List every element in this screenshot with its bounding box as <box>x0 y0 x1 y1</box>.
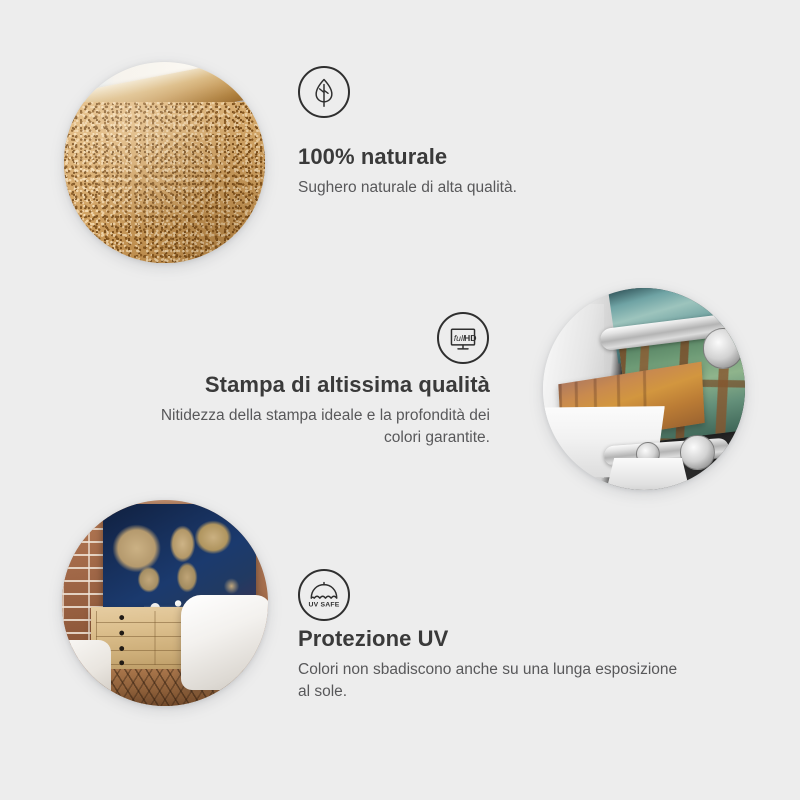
uv-safe-umbrella-icon: UV SAFE <box>298 569 350 621</box>
interior-world-map-photo <box>62 500 268 706</box>
feature-text-natural: 100% naturale Sughero naturale di alta q… <box>298 144 728 199</box>
fullhd-icon-text-bold: HD <box>464 333 477 343</box>
printer-roller-hub-right <box>703 328 743 368</box>
cork-photo-inner <box>64 62 265 263</box>
printing-machine-photo <box>543 288 745 490</box>
feature-title-natural: 100% naturale <box>298 144 728 170</box>
leaf-icon <box>298 66 350 118</box>
feature-title-print-quality: Stampa di altissima qualità <box>150 372 490 398</box>
room-armchair-left <box>62 640 111 702</box>
infographic-stage: 100% naturale Sughero naturale di alta q… <box>0 0 800 800</box>
feature-title-uv-protection: Protezione UV <box>298 626 678 652</box>
feature-text-uv-protection: Protezione UV Colori non sbadiscono anch… <box>298 626 678 703</box>
feature-description-print-quality: Nitidezza della stampa ideale e la profo… <box>150 405 490 449</box>
room-photo-inner <box>62 500 268 706</box>
fullhd-monitor-icon: full HD <box>437 312 489 364</box>
feature-description-natural: Sughero naturale di alta qualità. <box>298 177 728 199</box>
printer-photo-inner <box>543 288 745 490</box>
feature-description-uv-protection: Colori non sbadiscono anche su una lunga… <box>298 659 678 703</box>
printer-roller-hub-lower <box>680 435 714 469</box>
cork-texture-photo <box>64 62 265 263</box>
feature-text-print-quality: Stampa di altissima qualità Nitidezza de… <box>150 372 490 449</box>
cork-shading-overlay <box>64 62 265 263</box>
printer-base <box>604 458 693 490</box>
room-armchair-right <box>181 595 268 690</box>
uv-safe-icon-label: UV SAFE <box>309 601 340 608</box>
